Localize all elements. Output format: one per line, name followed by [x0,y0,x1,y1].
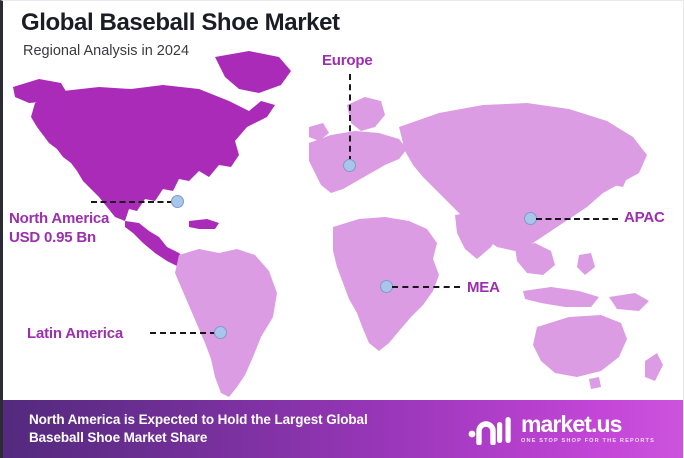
region-shape-philippines [577,253,595,275]
infographic-root: Global Baseball Shoe Market Regional Ana… [0,0,684,458]
region-label-latin-america[interactable]: Latin America [27,324,123,343]
logo-wordmark: market.us [521,413,655,436]
market-us-logo-text: market.us ONE STOP SHOP FOR THE REPORTS [521,413,655,445]
leader-line-europe [349,74,351,162]
region-shape-new-zealand [645,353,663,381]
region-label-north-america[interactable]: North America USD 0.95 Bn [9,209,109,247]
leader-line-apac [536,218,618,220]
leader-line-north-america [91,201,173,203]
leader-line-latin-america [150,332,216,334]
region-label-latin-america-line1: Latin America [27,325,123,342]
region-shape-caribbean [189,219,219,229]
region-shape-tasmania [589,377,601,389]
logo-tagline: ONE STOP SHOP FOR THE REPORTS [521,439,655,445]
footer-caption: North America is Expected to Hold the La… [29,411,368,447]
region-shape-indonesia [523,287,599,307]
header: Global Baseball Shoe Market Regional Ana… [21,9,340,59]
region-shape-sea [515,243,555,275]
region-label-north-america-value: USD 0.95 Bn [9,229,96,246]
region-label-mea[interactable]: MEA [467,278,500,297]
map-marker-latin-america[interactable] [214,326,227,339]
region-shape-scandinavia [347,97,385,131]
leader-line-mea [392,286,460,288]
footer-banner: North America is Expected to Hold the La… [3,400,684,458]
region-shape-india [455,211,501,259]
region-label-apac-line1: APAC [624,209,665,226]
footer-caption-line1: North America is Expected to Hold the La… [29,411,368,429]
market-us-logo[interactable]: market.us ONE STOP SHOP FOR THE REPORTS [467,413,673,445]
market-us-logo-mark [467,413,513,445]
page-subtitle: Regional Analysis in 2024 [23,43,340,60]
region-shape-png [609,293,649,311]
region-shape-central-america [125,221,187,267]
region-shape-south-america [175,249,277,397]
region-label-mea-line1: MEA [467,279,500,296]
region-label-apac[interactable]: APAC [624,208,665,227]
map-marker-europe[interactable] [343,159,356,172]
map-continents [13,51,663,397]
region-label-north-america-line1: North America [9,210,109,227]
region-shape-europe [309,131,407,193]
map-marker-north-america[interactable] [171,195,184,208]
region-shape-asia [399,103,647,251]
footer-caption-line2: Baseball Shoe Market Share [29,429,368,447]
region-shape-australia [533,315,627,377]
page-title: Global Baseball Shoe Market [21,9,340,37]
